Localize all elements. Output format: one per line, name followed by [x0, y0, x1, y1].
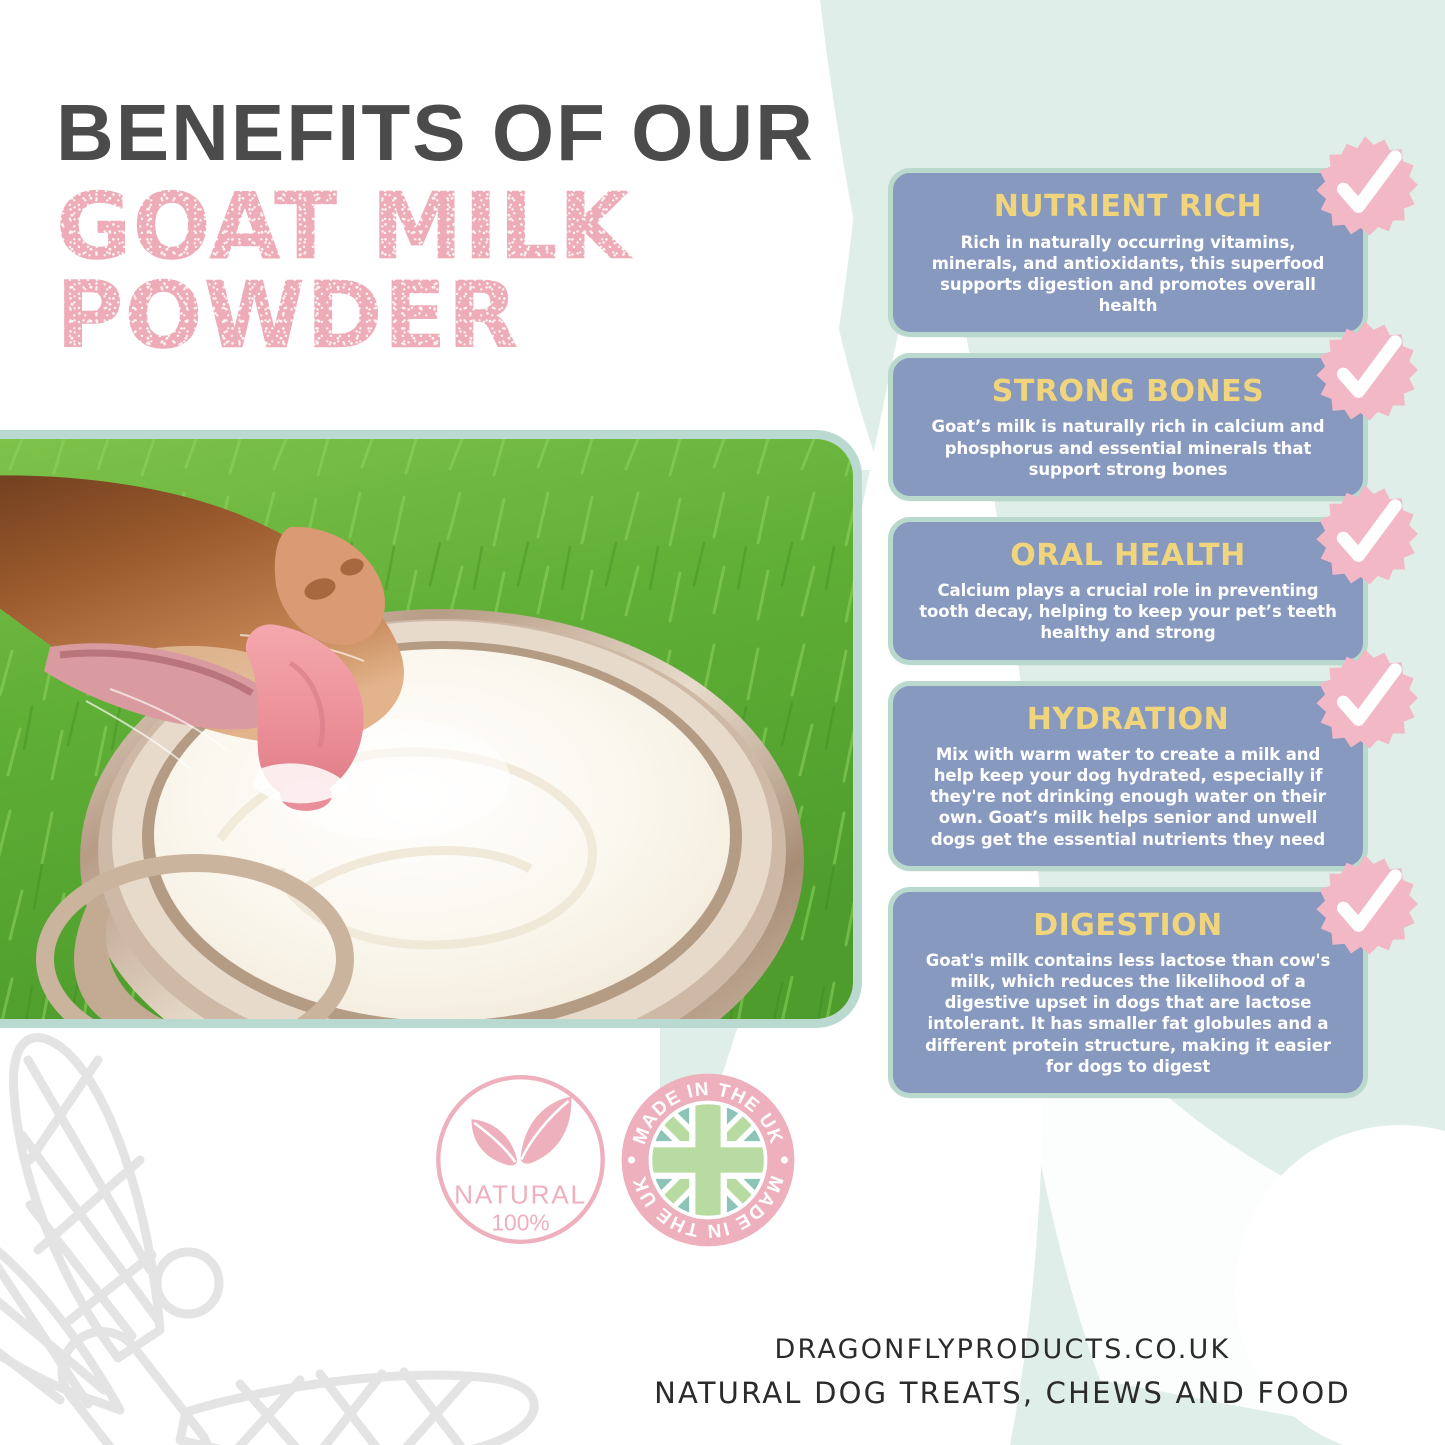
benefit-body: Rich in naturally occurring vitamins, mi… — [915, 232, 1341, 316]
benefit-title: NUTRIENT RICH — [915, 191, 1341, 223]
natural-percent: 100% — [491, 1209, 549, 1235]
natural-label: NATURAL — [454, 1179, 587, 1209]
benefit-card-hydration[interactable]: HYDRATION Mix with warm water to create … — [888, 681, 1368, 871]
hero-photo — [0, 430, 862, 1028]
benefit-body: Calcium plays a crucial role in preventi… — [915, 580, 1341, 643]
trust-badges: NATURAL 100% MADE IN THE UK — [420, 1062, 820, 1272]
benefit-title: DIGESTION — [915, 910, 1341, 942]
title-line-1: BENEFITS OF OUR — [56, 95, 896, 171]
benefit-body: Mix with warm water to create a milk and… — [915, 744, 1341, 850]
benefit-title: HYDRATION — [915, 704, 1341, 736]
check-badge-icon — [1311, 852, 1419, 960]
made-in-uk-badge: MADE IN THE UK MADE IN THE UK — [618, 1070, 798, 1250]
footer-website-url[interactable]: DRAGONFLYPRODUCTS.CO.UK — [620, 1332, 1385, 1368]
benefit-card-oral-health[interactable]: ORAL HEALTH Calcium plays a crucial role… — [888, 517, 1368, 665]
check-badge-icon — [1311, 646, 1419, 754]
leaf-icon — [472, 1097, 572, 1166]
benefit-card-digestion[interactable]: DIGESTION Goat's milk contains less lact… — [888, 887, 1368, 1098]
check-badge-icon — [1311, 133, 1419, 241]
check-badge-icon — [1311, 318, 1419, 426]
benefits-list: NUTRIENT RICH Rich in naturally occurrin… — [888, 168, 1368, 1114]
footer-tagline: NATURAL DOG TREATS, CHEWS AND FOOD — [620, 1374, 1385, 1413]
footer: DRAGONFLYPRODUCTS.CO.UK NATURAL DOG TREA… — [620, 1332, 1385, 1414]
benefit-title: ORAL HEALTH — [915, 540, 1341, 572]
benefit-card-strong-bones[interactable]: STRONG BONES Goat’s milk is naturally ri… — [888, 353, 1368, 501]
benefit-body: Goat's milk contains less lactose than c… — [915, 950, 1341, 1077]
benefit-title: STRONG BONES — [915, 376, 1341, 408]
check-badge-icon — [1311, 482, 1419, 590]
page-title: BENEFITS OF OUR GOAT MILK POWDER — [56, 95, 896, 358]
natural-100-badge: NATURAL 100% — [433, 1072, 608, 1247]
title-line-3: POWDER — [56, 274, 896, 359]
benefit-body: Goat’s milk is naturally rich in calcium… — [915, 416, 1341, 479]
dog-drinking-milk-illustration — [0, 439, 853, 1019]
title-line-2: GOAT MILK — [56, 185, 896, 270]
infographic-canvas: BENEFITS OF OUR GOAT MILK POWDER — [0, 0, 1445, 1445]
benefit-card-nutrient-rich[interactable]: NUTRIENT RICH Rich in naturally occurrin… — [888, 168, 1368, 337]
